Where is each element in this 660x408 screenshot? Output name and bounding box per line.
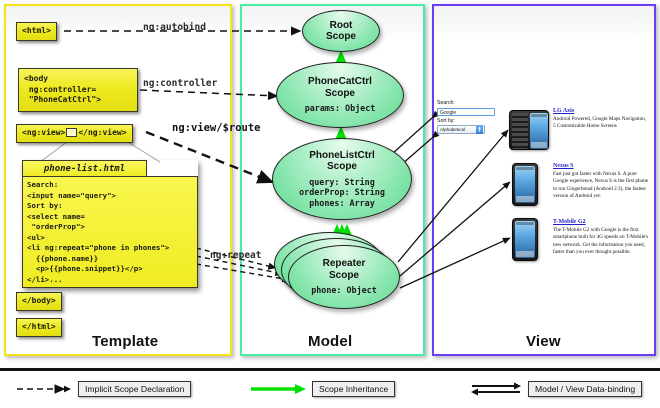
legend: Implicit Scope Declaration Scope Inherit… (0, 368, 660, 408)
chevron-updown-icon: ▲▼ (476, 125, 483, 134)
edge-label-route: ng:view/$route (172, 122, 261, 134)
search-input[interactable]: Google (437, 108, 495, 116)
scope-repeater-title-2: Scope (329, 270, 359, 282)
phone-keyboard-icon (512, 113, 528, 149)
scope-phonecat-title-2: Scope (325, 88, 355, 100)
scope-phonecatctrl: PhoneCatCtrl Scope params: Object (276, 62, 404, 128)
scope-phonelistctrl: PhoneListCtrl Scope query: String orderP… (272, 138, 412, 220)
phone-snippet-2: The T-Mobile G2 with Google is the first… (553, 227, 649, 256)
scope-repeater: Repeater Scope phone: Object (288, 245, 400, 309)
phone-screen-2 (515, 221, 535, 258)
scope-repeater-title-1: Repeater (323, 258, 366, 270)
code-box-ngview: <ng:view></ng:view> (16, 124, 133, 143)
scope-root-title-1: Root (330, 20, 353, 32)
ngview-slot-icon (66, 128, 77, 137)
legend-item-inheritance: Scope Inheritance (250, 381, 395, 397)
edge-label-controller: ng:controller (143, 78, 217, 89)
scope-phonelist-title-1: PhoneListCtrl (309, 150, 375, 162)
legend-label-databinding: Model / View Data-binding (528, 381, 642, 397)
sticky-note-phone-list: phone-list.html Search: <input name="que… (22, 160, 198, 288)
phone-screen-0 (530, 113, 548, 149)
edge-label-repeat: ng:repeat (210, 250, 261, 261)
sort-select-value: Alphabetical (440, 127, 465, 132)
column-label-model: Model (308, 333, 352, 350)
code-box-html: <html> (16, 22, 57, 41)
phone-name-link-1[interactable]: Nexus S (553, 163, 649, 169)
scope-repeater-props: phone: Object (311, 285, 377, 296)
phone-snippet-0: Android Powered, Google Maps Navigation,… (553, 116, 649, 131)
phone-screen-1 (515, 166, 535, 203)
legend-item-implicit: Implicit Scope Declaration (16, 381, 191, 397)
scope-root-title-2: Scope (326, 31, 356, 43)
phone-thumbnail-2 (512, 218, 538, 261)
phone-name-link-2[interactable]: T-Mobile G2 (553, 219, 649, 225)
ngview-close-tag: </ng:view> (78, 128, 126, 137)
ngview-open-tag: <ng:view> (22, 128, 65, 137)
column-label-view: View (526, 333, 561, 350)
scope-phonecat-props: params: Object (305, 103, 376, 114)
view-search-panel: Search: Google Sort by: Alphabetical ▲▼ (437, 100, 497, 134)
sort-select[interactable]: Alphabetical ▲▼ (437, 125, 485, 134)
scope-phonelist-title-2: Scope (327, 161, 357, 173)
sort-row: Sort by: Alphabetical ▲▼ (437, 118, 497, 135)
sort-label: Sort by: (437, 118, 497, 125)
scope-phonelist-props: query: String orderProp: String phones: … (299, 177, 385, 209)
search-label: Search: (437, 100, 497, 107)
phone-list-item-0: LG Axis Android Powered, Google Maps Nav… (553, 108, 649, 131)
edge-label-autobind: ng:autobind (143, 22, 206, 33)
legend-label-implicit: Implicit Scope Declaration (78, 381, 191, 397)
phone-thumbnail-1 (512, 163, 538, 206)
phone-snippet-1: Fast just got faster with Nexus S. A pur… (553, 171, 649, 200)
code-box-end-html: </html> (16, 318, 62, 337)
phone-list-item-1: Nexus S Fast just got faster with Nexus … (553, 163, 649, 200)
code-box-body: <body ng:controller= "PhoneCatCtrl"> (18, 68, 138, 112)
phone-thumbnail-0 (509, 110, 549, 150)
phone-name-link-0[interactable]: LG Axis (553, 108, 649, 114)
legend-green-arrow-icon (250, 383, 306, 395)
legend-dashed-arrow-icon (16, 384, 72, 394)
legend-label-inheritance: Scope Inheritance (312, 381, 395, 397)
legend-double-arrow-icon (470, 381, 522, 397)
phone-list-item-2: T-Mobile G2 The T-Mobile G2 with Google … (553, 219, 649, 256)
note-filename: phone-list.html (22, 160, 147, 177)
column-label-template: Template (92, 333, 158, 350)
diagram-canvas: Template Model View (0, 0, 660, 405)
scope-phonecat-title-1: PhoneCatCtrl (308, 76, 372, 88)
scope-root: Root Scope (302, 10, 380, 52)
legend-item-databinding: Model / View Data-binding (470, 381, 642, 397)
code-box-end-body: </body> (16, 292, 62, 311)
note-code: Search: <input name="query"> Sort by: <s… (22, 176, 198, 288)
